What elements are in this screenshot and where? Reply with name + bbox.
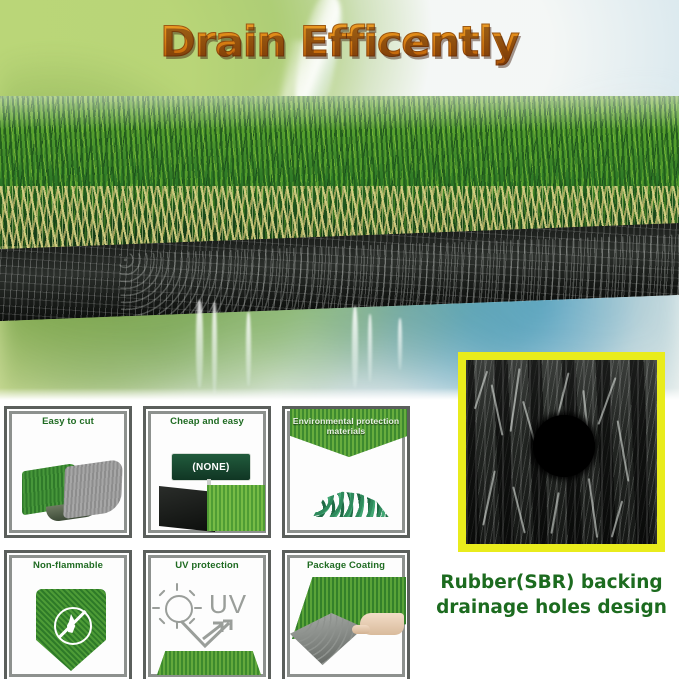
water-drip xyxy=(196,300,203,388)
hand-lifting-turf-icon xyxy=(290,573,402,674)
drainage-caption-line1: Rubber(SBR) backing xyxy=(424,570,679,595)
drainage-caption-line2: drainage holes design xyxy=(424,595,679,620)
drainage-hole xyxy=(533,415,595,477)
page-title: Drain Efficently xyxy=(0,17,679,66)
sun-uv-reflect-icon: UV xyxy=(151,573,263,674)
no-fire-shield-icon xyxy=(12,573,124,674)
feature-grid: Easy to cut Cheap and easy (NONE) Enviro… xyxy=(4,406,420,679)
feature-label: Cheap and easy xyxy=(146,416,268,427)
feature-card-non-flammable: Non-flammable xyxy=(4,550,132,679)
feature-card-cheap-and-easy: Cheap and easy (NONE) xyxy=(143,406,271,538)
product-feature-graphic: Drain Efficently Easy to cut Cheap and e… xyxy=(0,0,679,679)
feature-label: Environmental protection materials xyxy=(285,416,407,436)
feature-label: Package Coating xyxy=(285,560,407,571)
water-drip xyxy=(212,302,217,394)
drainage-caption: Rubber(SBR) backing drainage holes desig… xyxy=(424,570,679,620)
sign-text: (NONE) xyxy=(192,462,229,473)
feature-card-package-coating: Package Coating xyxy=(282,550,410,679)
feature-label: Easy to cut xyxy=(7,416,129,427)
feature-label: Non-flammable xyxy=(7,560,129,571)
feature-card-environmental-protection: Environmental protection materials xyxy=(282,406,410,538)
rolled-turf-icon xyxy=(12,429,124,530)
water-drip xyxy=(246,312,251,386)
feature-card-easy-to-cut: Easy to cut xyxy=(4,406,132,538)
price-sign-icon: (NONE) xyxy=(151,429,263,530)
rubber-backing-photo xyxy=(466,360,657,544)
water-drip xyxy=(398,318,402,370)
water-drip xyxy=(368,314,372,382)
reflect-arrow-icon xyxy=(179,619,241,649)
water-drip xyxy=(352,306,358,388)
drainage-hole-panel xyxy=(458,352,665,552)
feature-card-uv-protection: UV protection UV xyxy=(143,550,271,679)
uv-label: UV xyxy=(209,589,247,620)
feature-label: UV protection xyxy=(146,560,268,571)
